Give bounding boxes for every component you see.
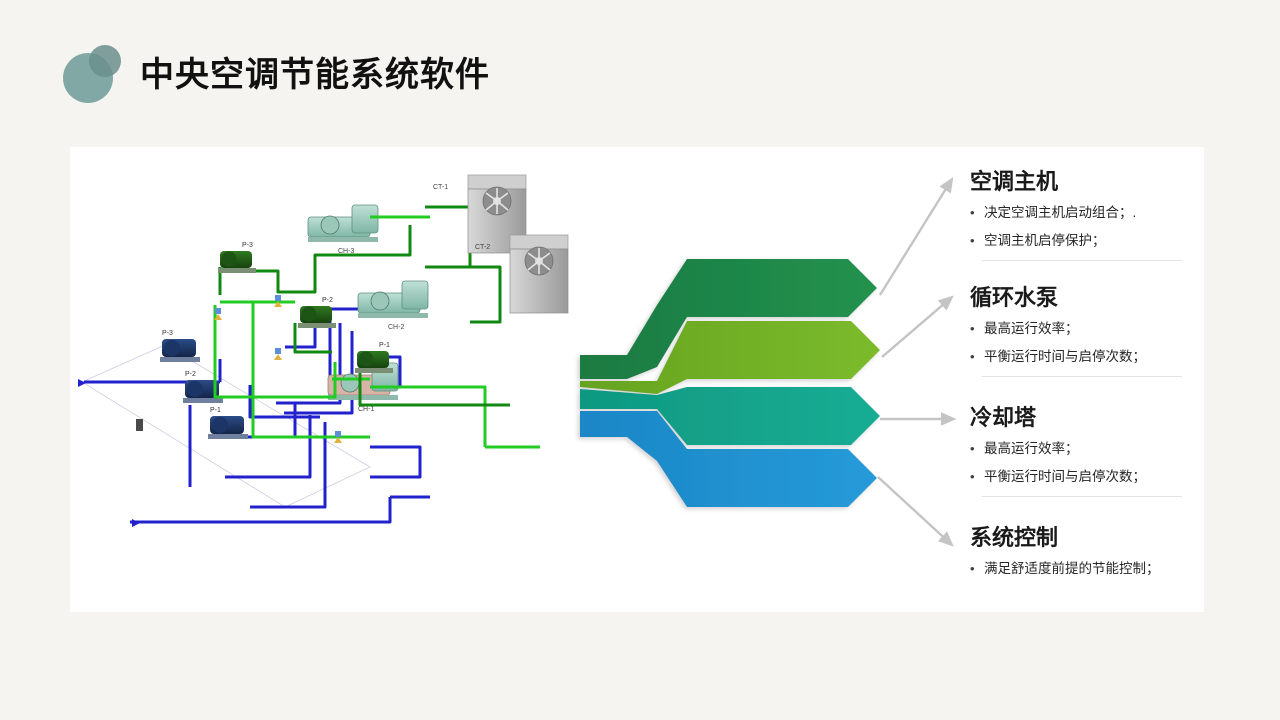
section-divider: [982, 376, 1182, 377]
svg-text:CH-1: CH-1: [358, 406, 374, 413]
bullet-dot-icon: •: [970, 320, 984, 337]
section-title-chiller: 空调主机: [970, 169, 1204, 195]
pump-p-1-blue: P-1: [208, 407, 248, 439]
chiller-plant-schematic: CH-3 CH-2 CH-1: [70, 147, 600, 612]
bullet-item: • 最高运行效率；: [970, 320, 1204, 337]
logo-circle-small: [89, 45, 121, 77]
cooling-tower-ct-2: CT-2: [475, 235, 568, 313]
section-chiller: 空调主机 • 决定空调主机启动组合；. • 空调主机启停保护；: [970, 169, 1204, 261]
content-card: CH-3 CH-2 CH-1: [70, 147, 1204, 612]
bullet-text: 决定空调主机启动组合；.: [984, 204, 1204, 221]
bullet-dot-icon: •: [970, 204, 984, 221]
page-header: 中央空调节能系统软件: [0, 0, 1280, 147]
section-cooling-tower: 冷却塔 • 最高运行效率； • 平衡运行时间与启停次数；: [970, 405, 1204, 497]
bullet-dot-icon: •: [970, 468, 984, 485]
connector-arrow-chiller: [880, 179, 952, 295]
section-title-cooling-tower: 冷却塔: [970, 405, 1204, 431]
svg-text:P-2: P-2: [322, 297, 333, 304]
section-system-control: 系统控制 • 满足舒适度前提的节能控制；: [970, 525, 1204, 588]
chiller-ch-3: CH-3: [308, 205, 378, 255]
pump-p-2-green: P-2: [298, 297, 336, 328]
bullet-text: 空调主机启停保护；: [984, 232, 1204, 249]
svg-text:P-1: P-1: [379, 342, 390, 349]
bullet-item: • 满足舒适度前提的节能控制；: [970, 560, 1204, 577]
bullet-text: 最高运行效率；: [984, 320, 1204, 337]
bullet-text: 最高运行效率；: [984, 440, 1204, 457]
bullet-item: • 平衡运行时间与启停次数；: [970, 348, 1204, 365]
section-pump: 循环水泵 • 最高运行效率； • 平衡运行时间与启停次数；: [970, 285, 1204, 377]
connector-arrow-pump: [882, 297, 952, 357]
chilled-water-pumps: P-3 P-2 P-1: [160, 330, 248, 439]
bullet-item: • 平衡运行时间与启停次数；: [970, 468, 1204, 485]
bullet-text: 平衡运行时间与启停次数；: [984, 348, 1204, 365]
bullet-dot-icon: •: [970, 348, 984, 365]
svg-text:P-3: P-3: [242, 242, 253, 249]
bullet-text: 满足舒适度前提的节能控制；: [984, 560, 1204, 577]
bullet-dot-icon: •: [970, 232, 984, 249]
bullet-dot-icon: •: [970, 440, 984, 457]
svg-text:P-1: P-1: [210, 407, 221, 414]
pump-p-3-green: P-3: [218, 242, 256, 273]
page-title: 中央空调节能系统软件: [140, 55, 490, 95]
bullet-text: 平衡运行时间与启停次数；: [984, 468, 1204, 485]
bullet-item: • 最高运行效率；: [970, 440, 1204, 457]
section-title-system-control: 系统控制: [970, 525, 1204, 551]
bullet-item: • 空调主机启停保护；: [970, 232, 1204, 249]
svg-text:CH-2: CH-2: [388, 324, 404, 331]
bullet-item: • 决定空调主机启动组合；.: [970, 204, 1204, 221]
svg-text:P-2: P-2: [185, 371, 196, 378]
svg-text:CT-2: CT-2: [475, 244, 490, 251]
logo: [63, 45, 125, 103]
bullet-dot-icon: •: [970, 560, 984, 577]
connector-arrow-system: [878, 477, 952, 545]
pump-p-1-green: P-1: [355, 342, 393, 373]
section-title-pump: 循环水泵: [970, 285, 1204, 311]
section-divider: [982, 496, 1182, 497]
pump-p-3-blue: P-3: [160, 330, 200, 362]
section-divider: [982, 260, 1182, 261]
chiller-ch-2: CH-2: [358, 281, 428, 331]
svg-text:CT-1: CT-1: [433, 184, 448, 191]
svg-text:P-3: P-3: [162, 330, 173, 337]
